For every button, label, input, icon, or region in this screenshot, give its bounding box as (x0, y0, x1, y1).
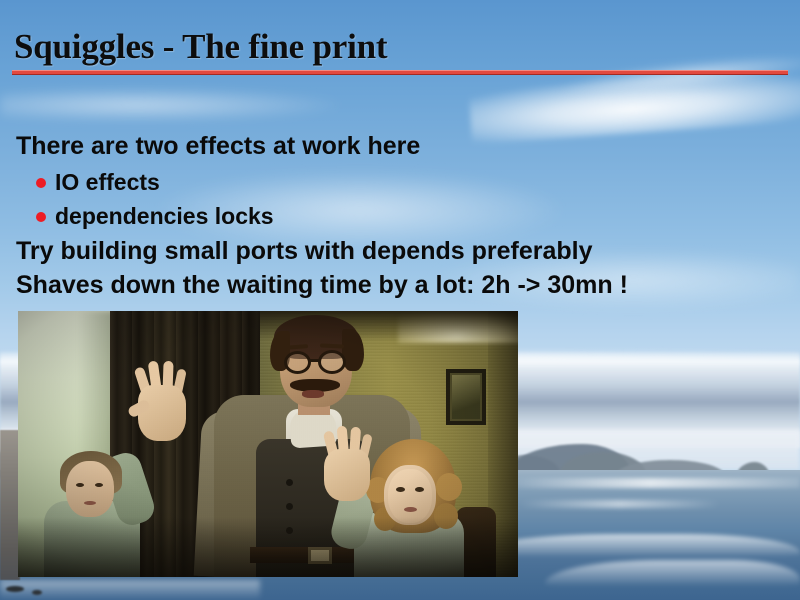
beach-debris (6, 586, 24, 592)
surf-line (500, 478, 800, 488)
bullet-item-2-label: dependencies locks (55, 203, 274, 229)
photo-vignette (18, 311, 518, 577)
slide-title: Squiggles - The fine print (14, 27, 387, 67)
cloud-wisp-icon (0, 88, 340, 122)
bullet-dot-icon (36, 212, 46, 222)
bullet-dot-icon (36, 178, 46, 188)
body-line-1: There are two effects at work here (16, 133, 420, 160)
inset-photo (18, 311, 518, 577)
body-line-5: Shaves down the waiting time by a lot: 2… (16, 272, 628, 299)
body-line-4: Try building small ports with depends pr… (16, 238, 593, 265)
title-underline-rule (12, 70, 788, 75)
bullet-item-1: IO effects (36, 170, 160, 195)
beach-debris (32, 590, 42, 595)
slide: Squiggles - The fine print There are two… (0, 0, 800, 600)
bullet-item-2: dependencies locks (36, 204, 274, 229)
wet-sand-beach (0, 430, 20, 580)
bullet-item-1-label: IO effects (55, 169, 160, 195)
surf-line (520, 500, 720, 508)
